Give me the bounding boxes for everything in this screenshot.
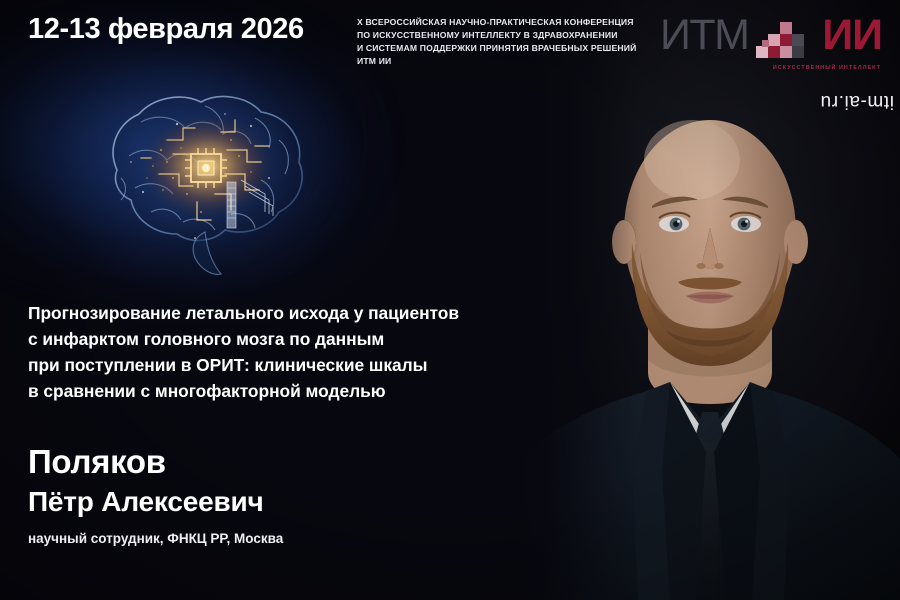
website-url[interactable]: itm-ai.ru [820,90,894,112]
event-date: 12-13 февраля 2026 [28,13,304,46]
talk-title-line-4: в сравнении с многофакторной моделью [28,378,548,404]
conference-line-3: И СИСТЕМАМ ПОДДЕРЖКИ ПРИНЯТИЯ ВРАЧЕБНЫХ … [357,42,647,55]
talk-title-line-1: Прогнозирование летального исхода у паци… [28,300,548,326]
logo-itm-text: ИТМ [660,12,749,58]
speaker-given-name: Пётр Алексеевич [28,485,264,519]
speaker-announcement-card: 12-13 февраля 2026 X ВСЕРОССИЙСКАЯ НАУЧН… [0,0,900,600]
conference-description: X ВСЕРОССИЙСКАЯ НАУЧНО-ПРАКТИЧЕСКАЯ КОНФ… [357,16,647,68]
speaker-role: научный сотрудник, ФНКЦ РР, Москва [28,529,283,548]
talk-title-line-3: при поступлении в ОРИТ: клинические шкал… [28,352,548,378]
talk-title: Прогнозирование летального исхода у паци… [28,300,548,404]
logo-mosaic-icon [754,22,804,59]
conference-line-2: ПО ИСКУССТВЕННОМУ ИНТЕЛЛЕКТУ В ЗДРАВОХРА… [357,29,647,42]
conference-line-1: X ВСЕРОССИЙСКАЯ НАУЧНО-ПРАКТИЧЕСКАЯ КОНФ… [357,16,647,29]
logo-tagline: ИСКУССТВЕННЫЙ ИНТЕЛЛЕКТ [773,65,881,71]
itm-ai-logo[interactable]: ИТМ ИИ ИСКУССТВЕННЫЙ ИНТЕЛЛЕКТ [660,10,884,72]
conference-line-4: ИТМ ИИ [357,55,647,68]
logo-ii-text: ИИ [822,12,882,58]
speaker-surname: Поляков [28,443,166,481]
talk-title-line-2: с инфарктом головного мозга по данным [28,326,548,352]
